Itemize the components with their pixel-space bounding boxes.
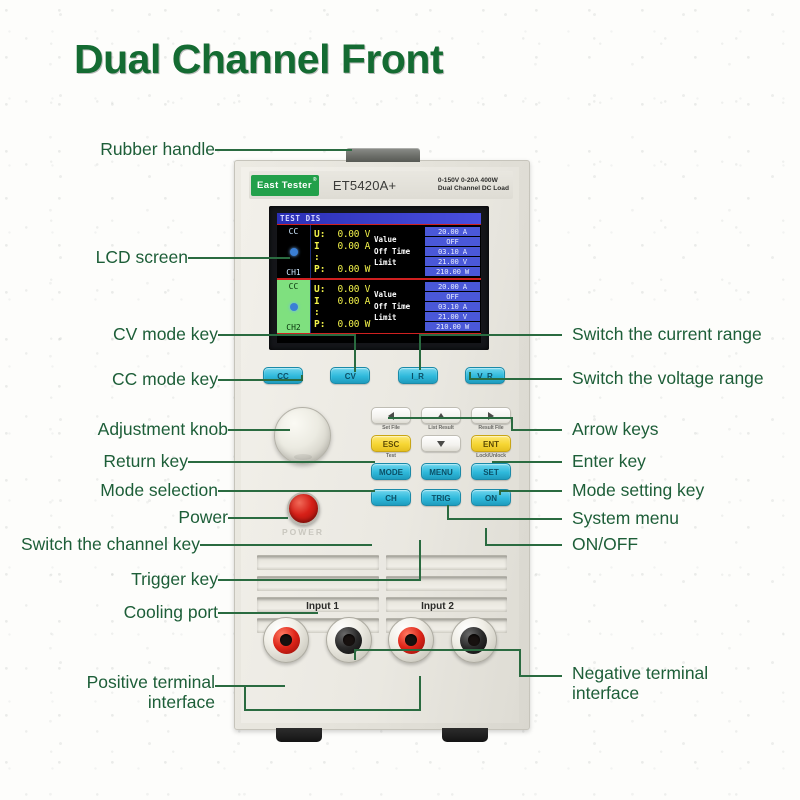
left-arrow-key[interactable] xyxy=(371,407,411,424)
up-arrow-sublabel: List Result xyxy=(421,425,461,432)
spec-block: 0-150V 0-20A 400W Dual Channel DC Load xyxy=(438,177,509,193)
callout-cc-mode-key: CC mode key xyxy=(40,370,218,390)
negative-terminal-input-1[interactable] xyxy=(326,617,372,663)
input-1-label: Input 1 xyxy=(306,601,339,612)
ch1-current-value: 0.00 A xyxy=(328,241,373,263)
mode-cell: MODE xyxy=(371,463,411,480)
ch2-value-1: OFF xyxy=(425,292,480,301)
voltage-range-key[interactable]: V_R xyxy=(465,367,505,384)
ch2-current-value: 0.00 A xyxy=(328,296,373,318)
cc-mode-key[interactable]: CC xyxy=(263,367,303,384)
callout-cv-mode-key: CV mode key xyxy=(40,325,218,345)
up-arrow-cell: List Result xyxy=(421,407,461,432)
front-panel: East Tester ® ET5420A+ 0-150V 0-20A 400W… xyxy=(241,167,519,723)
foot-left xyxy=(276,728,322,742)
ch1-voltage-label: U: xyxy=(314,229,328,240)
ch2-current-label: I : xyxy=(314,296,328,318)
down-arrow-sublabel xyxy=(421,453,461,460)
post-hole xyxy=(280,634,292,646)
on-cell: ON xyxy=(471,489,511,506)
ch2-voltage-label: U: xyxy=(314,284,328,295)
ch1-field-value: Value xyxy=(374,234,425,246)
set-key[interactable]: SET xyxy=(471,463,511,480)
ch1-field-names: Value Off Time Limit xyxy=(373,225,425,278)
trig-cell: TRIG xyxy=(421,489,461,506)
ch1-current-label: I : xyxy=(314,241,328,263)
ch2-value-4: 210.00 W xyxy=(425,322,480,331)
right-arrow-icon xyxy=(488,412,494,420)
adjustment-knob[interactable] xyxy=(274,407,331,464)
foot-right xyxy=(442,728,488,742)
post-core-red xyxy=(273,627,300,654)
callout-positive-terminal: Positive terminal interface xyxy=(40,673,215,712)
ch1-power-value: 0.00 W xyxy=(328,264,373,275)
post-hole xyxy=(343,634,355,646)
brand-bar: East Tester ® ET5420A+ 0-150V 0-20A 400W… xyxy=(249,171,513,199)
up-arrow-icon xyxy=(437,413,445,419)
ch1-mode: CC xyxy=(289,227,299,236)
post-hole xyxy=(468,634,480,646)
esc-sublabel: Test xyxy=(371,453,411,460)
menu-key[interactable]: MENU xyxy=(421,463,461,480)
vent-row xyxy=(257,555,507,570)
enter-key[interactable]: ENT xyxy=(471,435,511,452)
set-cell: SET xyxy=(471,463,511,480)
ch2-field-limit: Limit xyxy=(374,312,425,324)
ch2-field-offtime: Off Time xyxy=(374,301,425,313)
callout-trigger-key: Trigger key xyxy=(40,570,218,590)
vent-slot xyxy=(257,555,379,570)
callout-enter-key: Enter key xyxy=(572,452,772,472)
current-range-key[interactable]: I_R xyxy=(398,367,438,384)
post-hole xyxy=(405,634,417,646)
callout-lcd-screen: LCD screen xyxy=(20,248,188,268)
vent-slot xyxy=(386,576,508,591)
callout-mode-setting-key: Mode setting key xyxy=(572,481,787,501)
up-arrow-key[interactable] xyxy=(421,407,461,424)
ch1-readings: U: 0.00 V I : 0.00 A P: 0.00 W xyxy=(311,225,373,278)
ch1-field-offtime: Off Time xyxy=(374,246,425,258)
ch1-value-4: 210.00 W xyxy=(425,267,480,276)
negative-terminal-input-2[interactable] xyxy=(451,617,497,663)
spec-line-1: 0-150V 0-20A 400W xyxy=(438,177,509,185)
ch1-field-limit: Limit xyxy=(374,257,425,269)
ch2-power-value: 0.00 W xyxy=(328,319,373,330)
keypad-row-ch-trig-on: CH TRIG ON xyxy=(371,489,511,506)
callout-system-menu: System menu xyxy=(572,509,772,529)
callout-switch-voltage-range: Switch the voltage range xyxy=(572,369,797,389)
down-arrow-cell xyxy=(421,435,461,460)
esc-cell: ESC Test xyxy=(371,435,411,460)
ch1-tag: CC CH1 xyxy=(277,225,311,278)
spec-line-2: Dual Channel DC Load xyxy=(438,185,509,193)
power-label: POWER xyxy=(277,527,329,537)
keypad: Set File List Result Result File ESC Tes… xyxy=(371,407,511,509)
rubber-handle[interactable] xyxy=(346,148,420,162)
page-title: Dual Channel Front xyxy=(74,36,443,83)
registered-mark-icon: ® xyxy=(313,177,317,183)
keypad-row-esc-down-ent: ESC Test ENT Lock/Unlock xyxy=(371,435,511,460)
ent-sublabel: Lock/Unlock xyxy=(471,453,511,460)
ch-cell: CH xyxy=(371,489,411,506)
ch1-name: CH1 xyxy=(286,268,300,277)
ch2-value-3: 21.00 V xyxy=(425,312,480,321)
down-arrow-key[interactable] xyxy=(421,435,461,452)
keypad-row-arrows: Set File List Result Result File xyxy=(371,407,511,432)
vent-slot xyxy=(257,576,379,591)
callout-power: Power xyxy=(40,508,228,528)
callout-switch-channel-key: Switch the channel key xyxy=(10,535,200,555)
instrument-chassis: East Tester ® ET5420A+ 0-150V 0-20A 400W… xyxy=(234,160,530,730)
lcd-channel-2: CC CH2 U: 0.00 V I : 0.00 A P: 0.00 W xyxy=(277,279,481,334)
ch2-status-dot xyxy=(290,303,298,311)
terminal-area: Input 1 Input 2 xyxy=(241,601,519,713)
positive-terminal-input-1[interactable] xyxy=(263,617,309,663)
model-name: ET5420A+ xyxy=(333,178,396,193)
terminal-labels: Input 1 Input 2 xyxy=(241,601,519,612)
cv-mode-key[interactable]: CV xyxy=(330,367,370,384)
trigger-key[interactable]: TRIG xyxy=(421,489,461,506)
callout-negative-terminal: Negative terminal interface xyxy=(572,664,787,703)
ch1-value-1: OFF xyxy=(425,237,480,246)
callout-rubber-handle: Rubber handle xyxy=(40,140,215,160)
callout-cooling-port: Cooling port xyxy=(40,603,218,623)
callout-arrow-keys: Arrow keys xyxy=(572,420,772,440)
on-off-key[interactable]: ON xyxy=(471,489,511,506)
input-2-label: Input 2 xyxy=(421,601,454,612)
ch1-value-2: 03.10 A xyxy=(425,247,480,256)
left-arrow-icon xyxy=(388,412,394,420)
power-button[interactable] xyxy=(287,492,320,525)
ch1-status-dot xyxy=(290,248,298,256)
function-key-row: CC CV I_R V_R xyxy=(263,367,505,384)
menu-cell: MENU xyxy=(421,463,461,480)
vent-slot xyxy=(386,555,508,570)
left-arrow-cell: Set File xyxy=(371,407,411,432)
ch2-power-label: P: xyxy=(314,319,328,330)
ent-cell: ENT Lock/Unlock xyxy=(471,435,511,460)
callout-on-off: ON/OFF xyxy=(572,535,772,555)
dc-load-instrument: East Tester ® ET5420A+ 0-150V 0-20A 400W… xyxy=(234,160,530,730)
post-core-black xyxy=(335,627,362,654)
positive-terminal-input-2[interactable] xyxy=(388,617,434,663)
ch2-readings: U: 0.00 V I : 0.00 A P: 0.00 W xyxy=(311,280,373,333)
lcd-screen: TEST DIS CC CH1 U: 0.00 V I : 0.00 A xyxy=(269,206,489,350)
brand-name: East Tester xyxy=(257,180,312,191)
instrument-feet xyxy=(234,728,530,742)
right-arrow-cell: Result File xyxy=(471,407,511,432)
lcd-display-area: TEST DIS CC CH1 U: 0.00 V I : 0.00 A xyxy=(277,213,481,343)
binding-posts xyxy=(241,612,519,663)
post-core-black xyxy=(460,627,487,654)
ch2-field-values: 20.00 A OFF 03.10 A 21.00 V 210.00 W xyxy=(425,280,481,333)
power-area: POWER xyxy=(277,492,329,537)
right-arrow-sublabel: Result File xyxy=(471,425,511,432)
ch1-value-0: 20.00 A xyxy=(425,227,480,236)
ch2-name: CH2 xyxy=(286,323,300,332)
lcd-title: TEST DIS xyxy=(277,213,481,224)
ch1-field-values: 20.00 A OFF 03.10 A 21.00 V 210.00 W xyxy=(425,225,481,278)
return-key[interactable]: ESC xyxy=(371,435,411,452)
right-arrow-key[interactable] xyxy=(471,407,511,424)
ch2-value-2: 03.10 A xyxy=(425,302,480,311)
post-core-red xyxy=(398,627,425,654)
down-arrow-icon xyxy=(437,441,445,447)
channel-key[interactable]: CH xyxy=(371,489,411,506)
vent-row xyxy=(257,576,507,591)
callout-switch-current-range: Switch the current range xyxy=(572,325,797,345)
ch1-voltage-value: 0.00 V xyxy=(328,229,373,240)
mode-key[interactable]: MODE xyxy=(371,463,411,480)
lcd-channel-1: CC CH1 U: 0.00 V I : 0.00 A P: 0.00 W xyxy=(277,224,481,279)
ch1-value-3: 21.00 V xyxy=(425,257,480,266)
ch2-value-0: 20.00 A xyxy=(425,282,480,291)
ch2-voltage-value: 0.00 V xyxy=(328,284,373,295)
ch2-mode: CC xyxy=(289,282,299,291)
ch2-field-value: Value xyxy=(374,289,425,301)
callout-mode-selection: Mode selection xyxy=(40,481,218,501)
left-arrow-sublabel: Set File xyxy=(371,425,411,432)
brand-logo: East Tester ® xyxy=(251,175,319,196)
callout-return-key: Return key xyxy=(40,452,188,472)
callout-adjustment-knob: Adjustment knob xyxy=(40,420,228,440)
ch2-tag: CC CH2 xyxy=(277,280,311,333)
ch2-field-names: Value Off Time Limit xyxy=(373,280,425,333)
keypad-row-mode-menu-set: MODE MENU SET xyxy=(371,463,511,480)
ch1-power-label: P: xyxy=(314,264,328,275)
